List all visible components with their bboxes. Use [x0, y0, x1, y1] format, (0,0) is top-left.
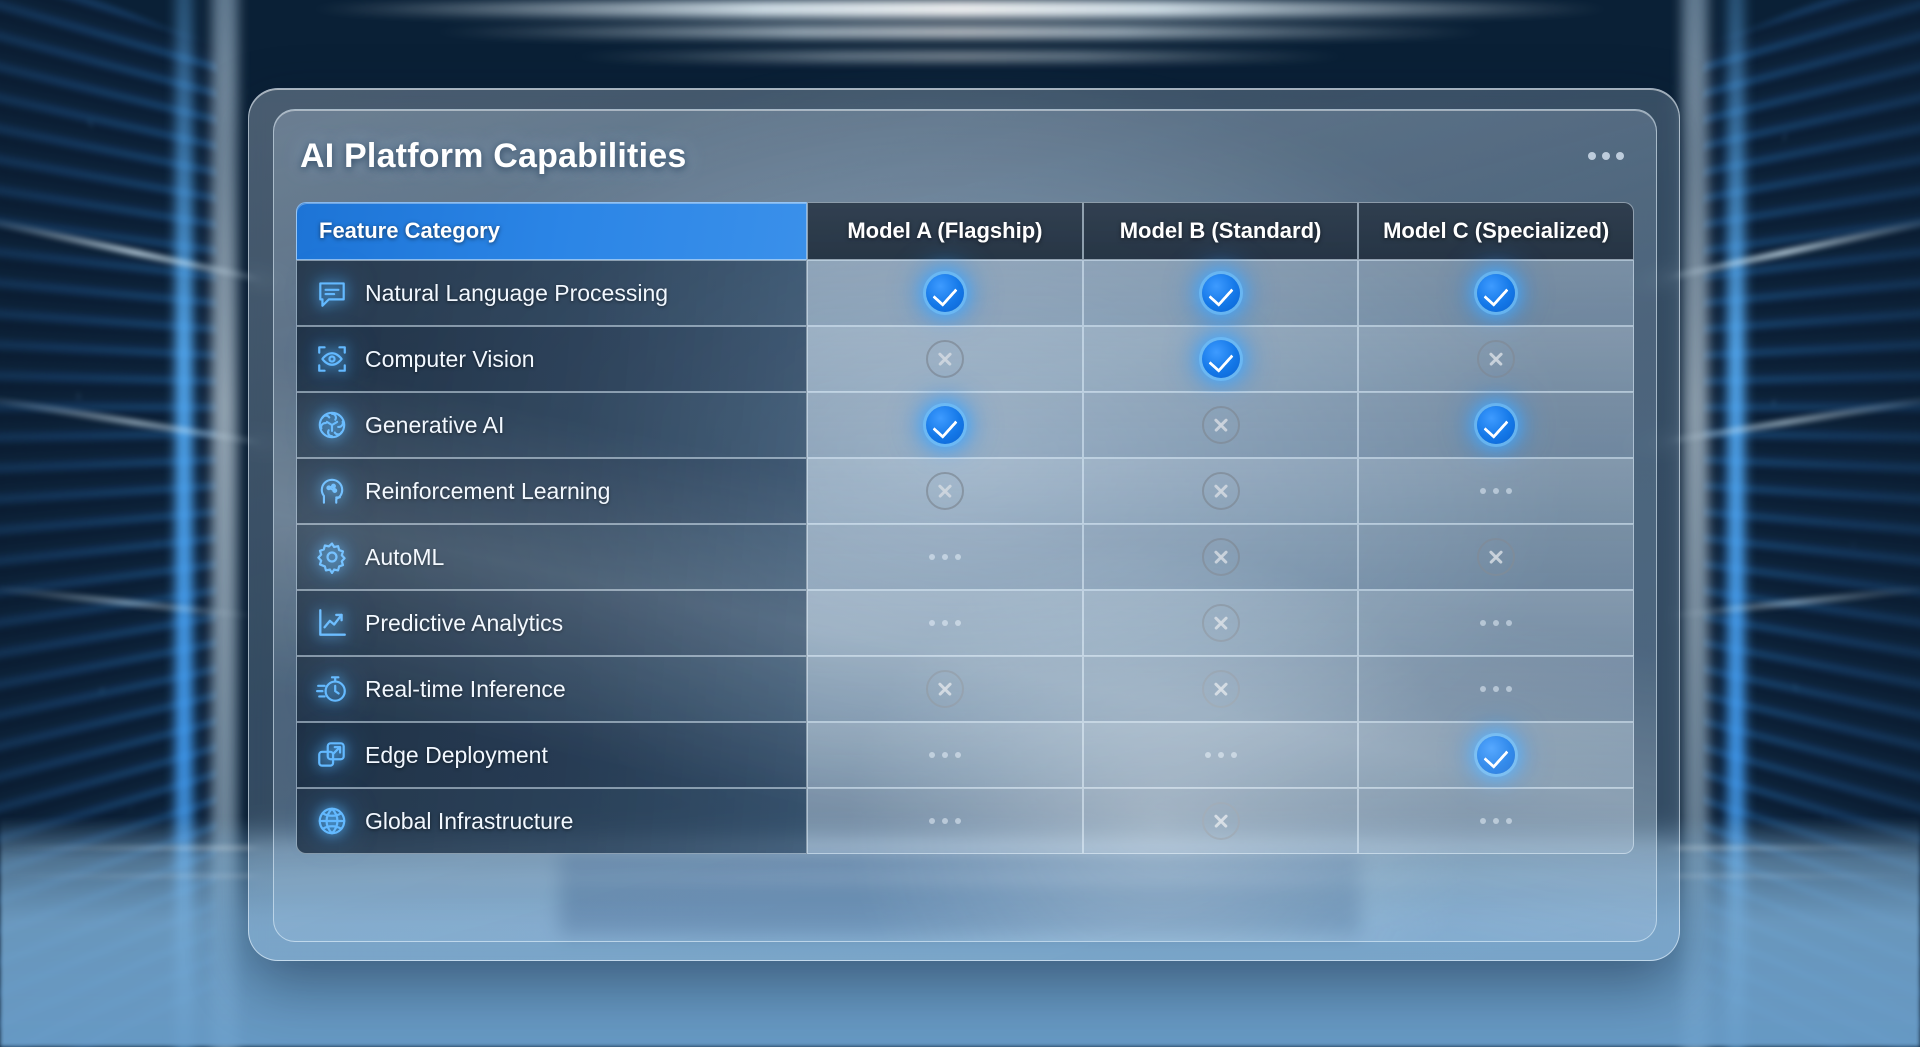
support-cell-model-c	[1358, 788, 1634, 854]
support-cell-model-a	[807, 590, 1083, 656]
table-row[interactable]: Reinforcement Learning	[296, 458, 1634, 524]
brain-head-icon	[315, 474, 349, 508]
support-cell-model-a	[807, 260, 1083, 326]
chat-bubble-icon	[315, 276, 349, 310]
card-header: AI Platform Capabilities	[274, 110, 1656, 202]
pending-dot	[942, 554, 948, 560]
status-pending-icon	[929, 736, 961, 774]
support-cell-model-b	[1083, 458, 1359, 524]
support-cell-model-a	[807, 458, 1083, 524]
pending-dot	[955, 620, 961, 626]
feature-cell: AutoML	[296, 524, 807, 590]
table-header-row: Feature Category Model A (Flagship) Mode…	[296, 202, 1634, 260]
status-check-icon	[926, 274, 964, 312]
support-cell-model-b	[1083, 260, 1359, 326]
table-row[interactable]: Computer Vision	[296, 326, 1634, 392]
pending-dot	[955, 752, 961, 758]
table-row[interactable]: Natural Language Processing	[296, 260, 1634, 326]
support-cell-model-c	[1358, 722, 1634, 788]
column-header-feature[interactable]: Feature Category	[296, 202, 807, 260]
feature-cell: Natural Language Processing	[296, 260, 807, 326]
pending-dot	[942, 752, 948, 758]
status-check-icon	[1477, 274, 1515, 312]
pending-dot	[1506, 818, 1512, 824]
comparison-table: Feature Category Model A (Flagship) Mode…	[296, 202, 1634, 854]
status-cross-icon	[1202, 604, 1240, 642]
table-row[interactable]: Generative AI	[296, 392, 1634, 458]
support-cell-model-c	[1358, 392, 1634, 458]
support-cell-model-c	[1358, 590, 1634, 656]
screenshot-scene: AI Platform Capabilities Feature Categor…	[0, 0, 1920, 1047]
line-chart-icon	[315, 606, 349, 640]
support-cell-model-c	[1358, 458, 1634, 524]
globe-icon	[315, 804, 349, 838]
ceiling-bar	[420, 26, 1500, 38]
support-cell-model-b	[1083, 788, 1359, 854]
feature-cell: Global Infrastructure	[296, 788, 807, 854]
status-pending-icon	[1480, 472, 1512, 510]
support-cell-model-a	[807, 722, 1083, 788]
pending-dot	[1506, 488, 1512, 494]
status-cross-icon	[1202, 538, 1240, 576]
stopwatch-speed-icon	[315, 672, 349, 706]
pending-dot	[1493, 620, 1499, 626]
gear-icon	[315, 540, 349, 574]
feature-label: AutoML	[365, 544, 444, 571]
support-cell-model-c	[1358, 524, 1634, 590]
support-cell-model-b	[1083, 656, 1359, 722]
status-check-icon	[1477, 736, 1515, 774]
column-header-model-b[interactable]: Model B (Standard)	[1083, 202, 1359, 260]
status-cross-icon	[1202, 406, 1240, 444]
pending-dot	[1493, 686, 1499, 692]
status-check-icon	[926, 406, 964, 444]
pending-dot	[1480, 620, 1486, 626]
pending-dot	[1205, 752, 1211, 758]
pending-dot	[1231, 752, 1237, 758]
edge-deploy-icon	[315, 738, 349, 772]
feature-label: Computer Vision	[365, 346, 535, 373]
feature-cell: Predictive Analytics	[296, 590, 807, 656]
table-row[interactable]: AutoML	[296, 524, 1634, 590]
kebab-menu-icon[interactable]	[1584, 144, 1628, 168]
feature-label: Natural Language Processing	[365, 280, 668, 307]
pending-dot	[942, 818, 948, 824]
feature-label: Reinforcement Learning	[365, 478, 610, 505]
ceiling-bar	[560, 52, 1360, 61]
table-body: Natural Language ProcessingComputer Visi…	[296, 260, 1634, 854]
page-title: AI Platform Capabilities	[300, 137, 686, 176]
comparison-table-wrap: Feature Category Model A (Flagship) Mode…	[274, 202, 1656, 941]
feature-label: Generative AI	[365, 412, 504, 439]
pending-dot	[955, 818, 961, 824]
status-pending-icon	[929, 802, 961, 840]
glass-panel: AI Platform Capabilities Feature Categor…	[248, 88, 1680, 961]
support-cell-model-a	[807, 524, 1083, 590]
table-row[interactable]: Global Infrastructure	[296, 788, 1634, 854]
support-cell-model-b	[1083, 524, 1359, 590]
feature-cell: Computer Vision	[296, 326, 807, 392]
feature-cell: Edge Deployment	[296, 722, 807, 788]
pending-dot	[929, 554, 935, 560]
status-pending-icon	[1205, 736, 1237, 774]
pending-dot	[1506, 686, 1512, 692]
status-pending-icon	[929, 538, 961, 576]
support-cell-model-c	[1358, 260, 1634, 326]
feature-cell: Generative AI	[296, 392, 807, 458]
status-cross-icon	[1202, 670, 1240, 708]
status-cross-icon	[1477, 340, 1515, 378]
pending-dot	[929, 818, 935, 824]
column-header-model-a[interactable]: Model A (Flagship)	[807, 202, 1083, 260]
pending-dot	[1218, 752, 1224, 758]
feature-label: Predictive Analytics	[365, 610, 563, 637]
status-pending-icon	[929, 604, 961, 642]
status-cross-icon	[926, 472, 964, 510]
status-pending-icon	[1480, 802, 1512, 840]
pending-dot	[1493, 488, 1499, 494]
status-pending-icon	[1480, 604, 1512, 642]
table-row[interactable]: Real-time Inference	[296, 656, 1634, 722]
table-row[interactable]: Predictive Analytics	[296, 590, 1634, 656]
feature-label: Real-time Inference	[365, 676, 566, 703]
pending-dot	[955, 554, 961, 560]
pending-dot	[1506, 620, 1512, 626]
column-header-model-c[interactable]: Model C (Specialized)	[1358, 202, 1634, 260]
status-check-icon	[1202, 340, 1240, 378]
pending-dot	[929, 752, 935, 758]
support-cell-model-a	[807, 788, 1083, 854]
generative-ai-icon	[315, 408, 349, 442]
status-cross-icon	[1202, 802, 1240, 840]
kebab-dot	[1588, 152, 1596, 160]
feature-label: Global Infrastructure	[365, 808, 573, 835]
status-cross-icon	[926, 670, 964, 708]
status-cross-icon	[926, 340, 964, 378]
feature-cell: Reinforcement Learning	[296, 458, 807, 524]
ceiling-bar	[300, 0, 1620, 18]
status-check-icon	[1202, 274, 1240, 312]
status-check-icon	[1477, 406, 1515, 444]
support-cell-model-a	[807, 392, 1083, 458]
support-cell-model-c	[1358, 656, 1634, 722]
support-cell-model-b	[1083, 326, 1359, 392]
status-cross-icon	[1477, 538, 1515, 576]
status-cross-icon	[1202, 472, 1240, 510]
capabilities-card: AI Platform Capabilities Feature Categor…	[273, 109, 1657, 942]
support-cell-model-b	[1083, 722, 1359, 788]
support-cell-model-a	[807, 326, 1083, 392]
table-row[interactable]: Edge Deployment	[296, 722, 1634, 788]
support-cell-model-c	[1358, 326, 1634, 392]
status-pending-icon	[1480, 670, 1512, 708]
pending-dot	[1480, 686, 1486, 692]
support-cell-model-a	[807, 656, 1083, 722]
support-cell-model-b	[1083, 590, 1359, 656]
feature-label: Edge Deployment	[365, 742, 548, 769]
pending-dot	[942, 620, 948, 626]
feature-cell: Real-time Inference	[296, 656, 807, 722]
pending-dot	[1480, 818, 1486, 824]
kebab-dot	[1602, 152, 1610, 160]
support-cell-model-b	[1083, 392, 1359, 458]
kebab-dot	[1616, 152, 1624, 160]
eye-scan-icon	[315, 342, 349, 376]
pending-dot	[929, 620, 935, 626]
pending-dot	[1493, 818, 1499, 824]
table-head: Feature Category Model A (Flagship) Mode…	[296, 202, 1634, 260]
pending-dot	[1480, 488, 1486, 494]
